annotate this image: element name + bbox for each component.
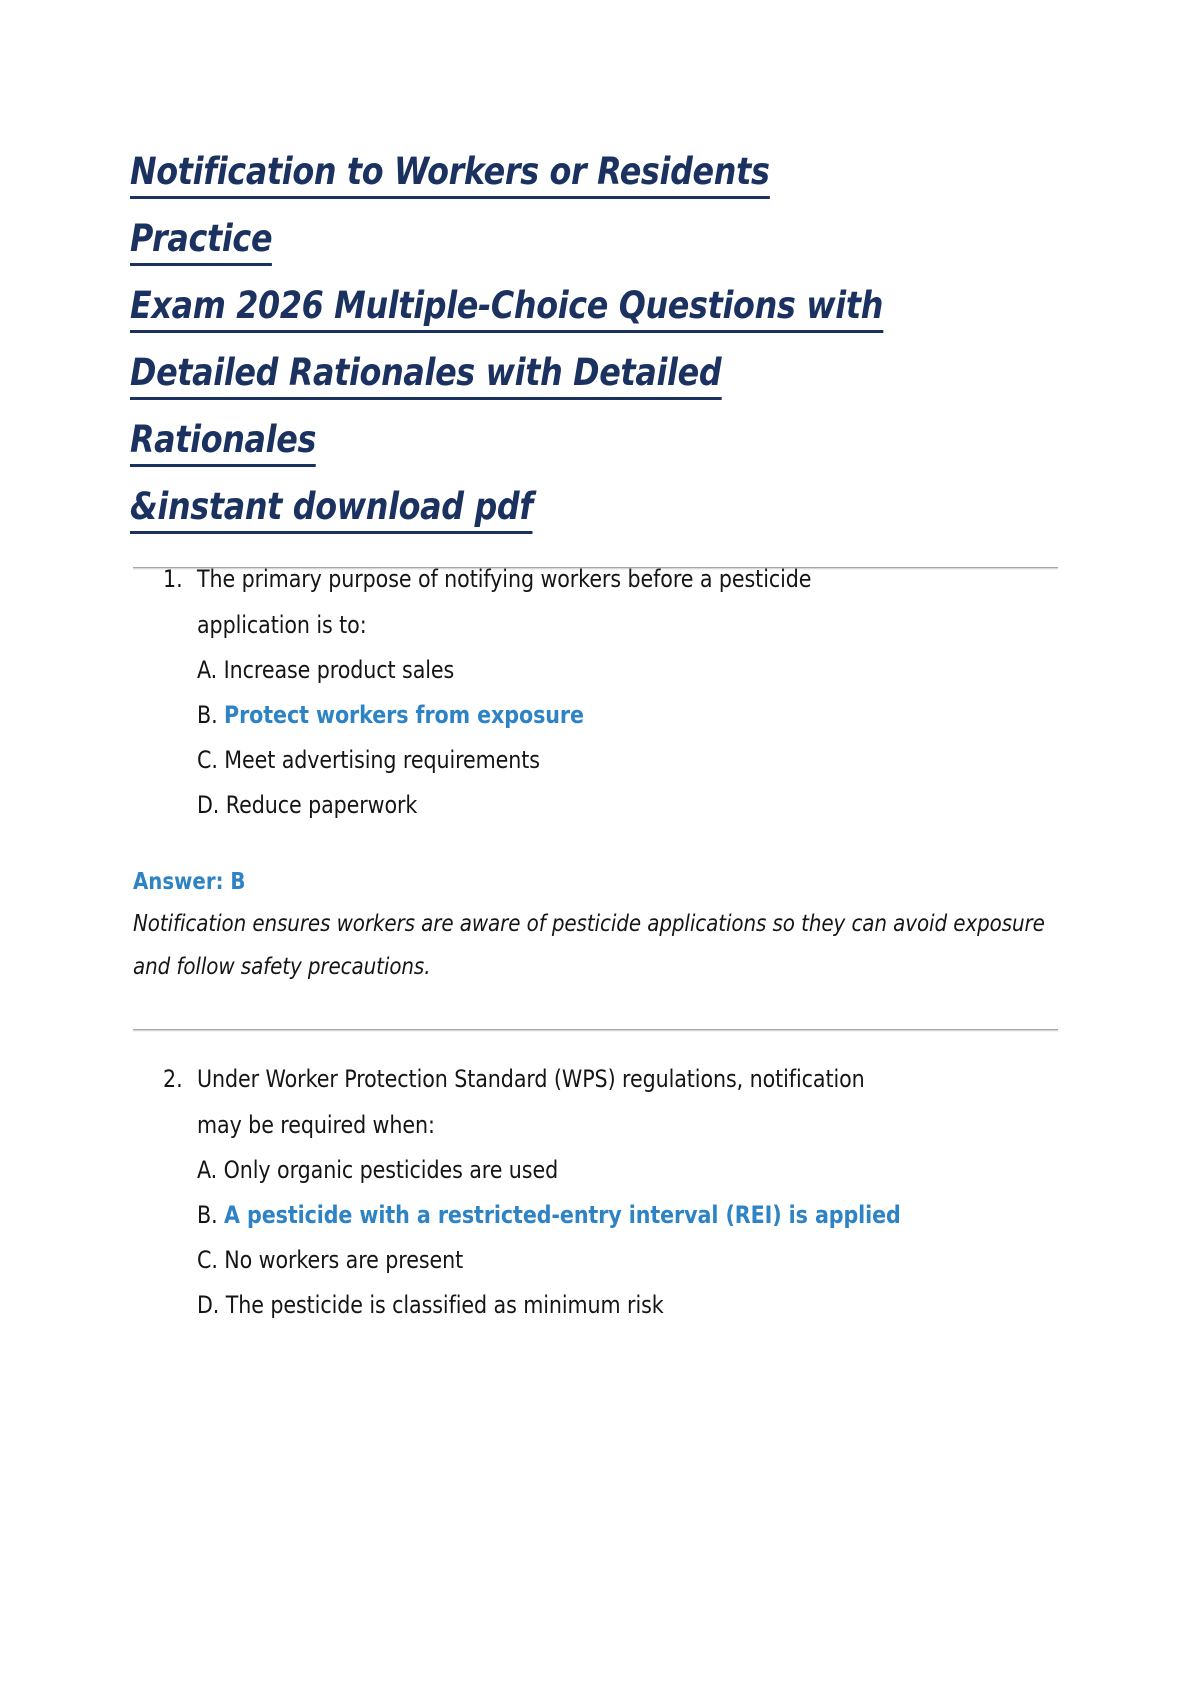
option-letter: C. [197,746,218,774]
question-2-option-c[interactable]: C. No workers are present [0,1238,1200,1283]
option-text: A pesticide with a restricted-entry inte… [224,1201,901,1229]
option-letter: B. [197,701,218,729]
section-divider-2 [133,1029,1058,1032]
question-1-answer-label: Answer: B [0,865,1200,899]
option-letter: B. [197,1201,218,1229]
question-2-option-b[interactable]: B. A pesticide with a restricted-entry i… [0,1193,1200,1238]
question-1-rationale: Notification ensures workers are aware o… [0,903,1063,989]
question-1-option-d[interactable]: D. Reduce paperwork [0,783,1200,828]
question-1-number: 1. [163,556,192,602]
question-2-number: 2. [163,1056,192,1102]
option-letter: A. [197,656,217,684]
question-1-option-a[interactable]: A. Increase product sales [0,648,1200,693]
question-block-1: 1. The primary purpose of notifying work… [0,556,1200,989]
answer-text: Answer: B [133,865,245,899]
option-text: Reduce paperwork [226,791,418,819]
question-1-stem-row: 1. The primary purpose of notifying work… [0,556,1200,648]
question-1-stem: The primary purpose of notifying workers… [197,556,876,648]
page-title-line-2: Exam 2026 Multiple-Choice Questions with [130,284,883,333]
page-title: Notification to Workers or Residents Pra… [130,138,887,540]
question-2-option-d[interactable]: D. The pesticide is classified as minimu… [0,1283,1200,1328]
page-title-line-3: Detailed Rationales with Detailed Ration… [130,351,721,467]
question-block-2: 2. Under Worker Protection Standard (WPS… [0,1056,1200,1328]
rationale-text: Notification ensures workers are aware o… [133,903,1063,989]
question-1-option-c[interactable]: C. Meet advertising requirements [0,738,1200,783]
option-letter: D. [197,791,219,819]
page-title-line-1: Notification to Workers or Residents Pra… [130,150,770,266]
option-text: Meet advertising requirements [224,746,540,774]
option-letter: C. [197,1246,218,1274]
question-1-option-b[interactable]: B. Protect workers from exposure [0,693,1200,738]
question-2-stem-row: 2. Under Worker Protection Standard (WPS… [0,1056,1200,1148]
option-text: Protect workers from exposure [224,701,584,729]
document-page: Notification to Workers or Residents Pra… [0,0,1200,1700]
option-letter: D. [197,1291,219,1319]
question-2-stem: Under Worker Protection Standard (WPS) r… [197,1056,876,1148]
page-title-line-4: &instant download pdf [130,485,533,534]
option-text: The pesticide is classified as minimum r… [226,1291,664,1319]
question-2-option-a[interactable]: A. Only organic pesticides are used [0,1148,1200,1193]
option-text: No workers are present [224,1246,463,1274]
option-text: Only organic pesticides are used [224,1156,558,1184]
option-text: Increase product sales [224,656,455,684]
option-letter: A. [197,1156,217,1184]
